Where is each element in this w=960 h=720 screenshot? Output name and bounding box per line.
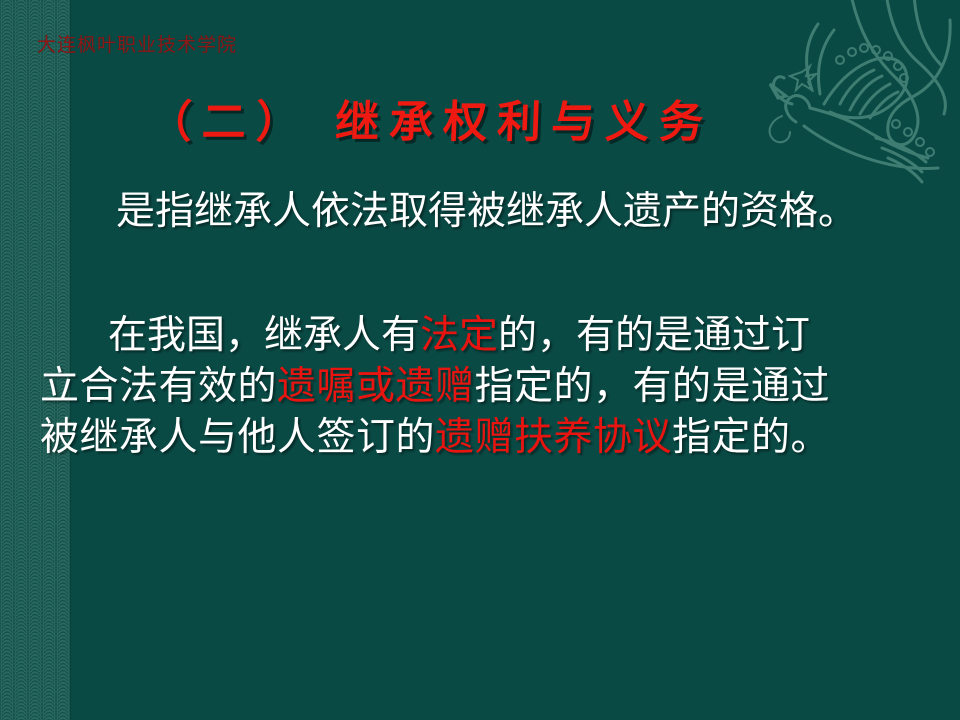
paragraph-two-line-1: 在我国，继承人有法定的，有的是通过订 [40, 310, 960, 361]
body-paragraph-two: 在我国，继承人有法定的，有的是通过订 立合法有效的遗嘱或遗赠指定的，有的是通过 … [0, 310, 960, 463]
line-2-highlight: 遗嘱或遗赠 [277, 364, 475, 409]
line-1-text-b: 的，有的是通过订 [498, 313, 810, 358]
line-2-text-a: 立合法有效的 [40, 364, 277, 409]
line-1-highlight: 法定 [420, 313, 498, 358]
phoenix-bird-ornament [700, 0, 960, 190]
paragraph-two-line-2: 立合法有效的遗嘱或遗赠指定的，有的是通过 [40, 361, 960, 412]
school-name-header: 大连枫叶职业技术学院 [37, 30, 237, 57]
slide-body: 是指继承人依法取得被继承人遗产的资格。 在我国，继承人有法定的，有的是通过订 立… [0, 186, 960, 463]
body-paragraph-one: 是指继承人依法取得被继承人遗产的资格。 [0, 186, 960, 238]
presentation-slide: 大连枫叶职业技术学院 （二） 继承权利与义务 是指继承人依法取得被继承人遗产的资… [0, 0, 960, 720]
page-title: （二） 继承权利与义务 [147, 86, 715, 150]
paragraph-two-line-3: 被继承人与他人签订的遗赠扶养协议指定的。 [40, 412, 960, 463]
line-2-text-b: 指定的，有的是通过 [475, 364, 831, 409]
line-3-text-b: 指定的。 [672, 415, 830, 460]
line-3-text-a: 被继承人与他人签订的 [40, 415, 435, 460]
line-1-text-a: 在我国，继承人有 [108, 313, 420, 358]
line-3-highlight: 遗赠扶养协议 [435, 415, 672, 460]
